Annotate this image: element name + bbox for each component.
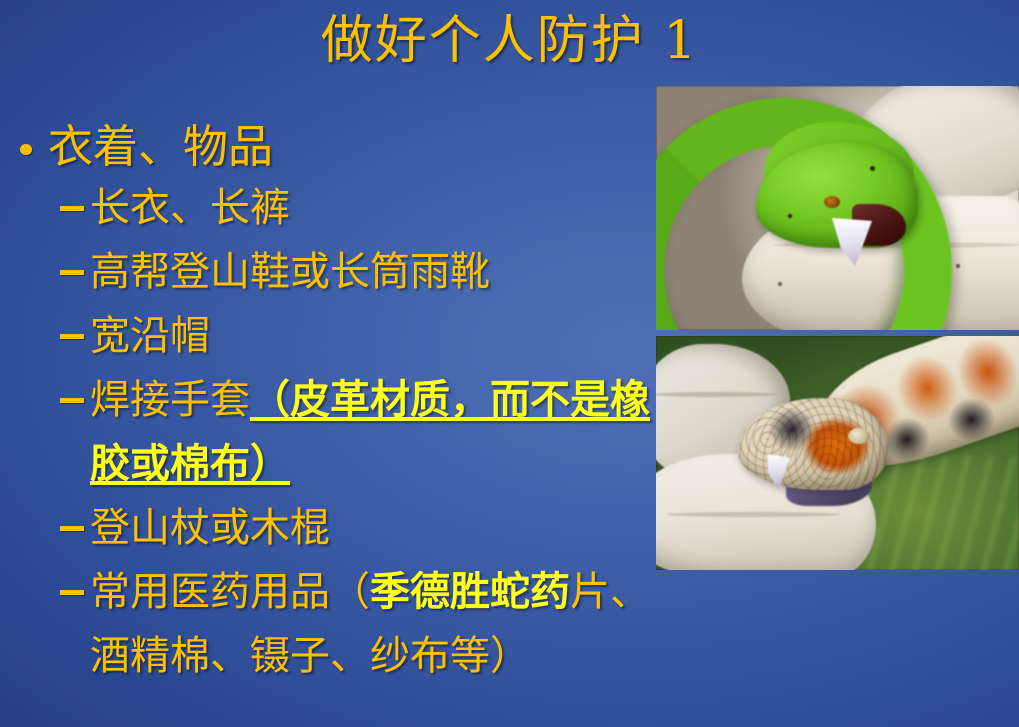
scale-speck xyxy=(870,166,875,171)
snake-eye xyxy=(824,196,840,208)
presentation-slide: 做好个人防护 1 衣着、物品 长衣、长裤 高帮登山鞋或长筒雨靴 宽沿帽 焊接手套… xyxy=(0,0,1019,727)
glove-speck xyxy=(778,282,782,286)
slide-title: 做好个人防护 1 xyxy=(0,8,1019,74)
dash-bullet-icon xyxy=(60,526,84,531)
dot-bullet-icon xyxy=(20,144,32,155)
sub-item-label: 高帮登山鞋或长筒雨靴 xyxy=(90,249,490,295)
snake-eye xyxy=(848,428,870,444)
scale-speck xyxy=(788,214,792,218)
dash-bullet-icon xyxy=(60,334,84,339)
sub-item-label: 宽沿帽 xyxy=(90,313,210,359)
sub-item-long-sleeves-trousers: 长衣、长裤 xyxy=(8,176,668,240)
sub-item-trekking-pole-or-stick: 登山杖或木棍 xyxy=(8,496,668,560)
sub-item-label: 长衣、长裤 xyxy=(90,185,290,231)
sub-item-label: 焊接手套 xyxy=(90,377,250,423)
sub-item-high-top-hiking-boots: 高帮登山鞋或长筒雨靴 xyxy=(8,240,668,304)
glove-speck xyxy=(956,264,960,268)
photo-patterned-viper-on-glove xyxy=(656,336,1019,570)
dash-bullet-icon xyxy=(60,398,84,403)
slide-body-content: 衣着、物品 长衣、长裤 高帮登山鞋或长筒雨靴 宽沿帽 焊接手套（皮革材质，而不是… xyxy=(8,118,668,688)
sub-item-label: 常用医药用品（ xyxy=(90,569,370,615)
bullet-label: 衣着、物品 xyxy=(48,120,273,173)
bullet-item-clothing-and-gear: 衣着、物品 xyxy=(8,118,668,176)
sub-item-label: 登山杖或木棍 xyxy=(90,505,330,551)
sub-item-welding-gloves: 焊接手套（皮革材质，而不是橡胶或棉布） xyxy=(8,368,670,496)
sub-item-wide-brim-hat: 宽沿帽 xyxy=(8,304,668,368)
dash-bullet-icon xyxy=(60,206,84,211)
dash-bullet-icon xyxy=(60,590,84,595)
sub-item-common-medical-supplies: 常用医药用品（季德胜蛇药片、酒精棉、镊子、纱布等） xyxy=(8,560,670,688)
dash-bullet-icon xyxy=(60,270,84,275)
sub-item-emphasis-jidesheng-snake-medicine: 季德胜蛇药 xyxy=(370,568,570,615)
photo-green-pit-viper-on-glove xyxy=(656,86,1019,330)
